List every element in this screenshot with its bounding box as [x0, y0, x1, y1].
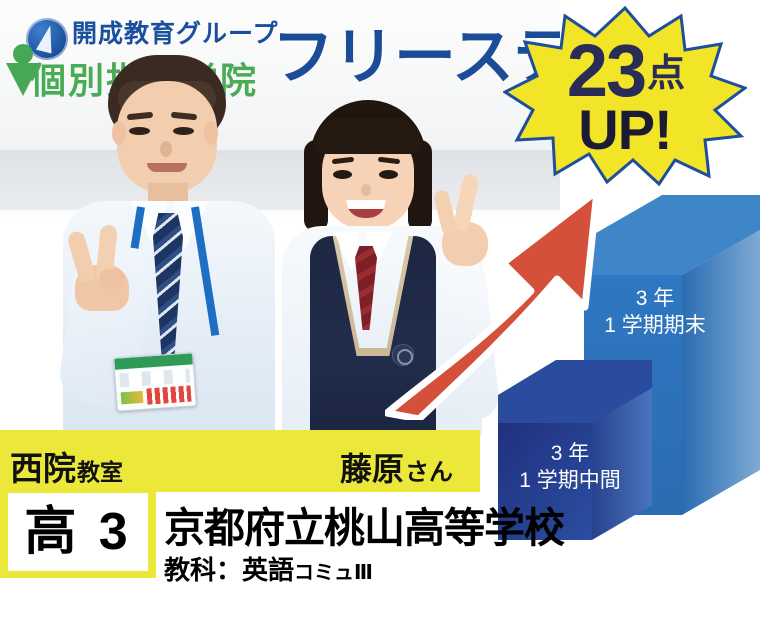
subject-label: 教科： [164, 555, 242, 585]
banner-group-name: 開成教育グループ [72, 14, 279, 50]
points-unit: 点 [647, 53, 683, 95]
student-honorific: さん [405, 459, 453, 486]
student-name-label: 藤原さん [340, 444, 760, 490]
points-value-group: 23点 [503, 34, 747, 108]
teacher-peace-hand [69, 225, 131, 311]
growth-arrow-icon [385, 175, 625, 420]
subject-sub: コミュⅢ [294, 562, 373, 584]
success-story-card: 開成教育グループ 個別指導学院 フリーステ [0, 0, 760, 620]
classroom-suffix: 教室 [77, 459, 123, 485]
school-name: 京都府立桃山高等学校 [164, 494, 564, 554]
grade-box: 高 3 [8, 493, 148, 571]
student-name: 藤原 [340, 451, 404, 487]
teacher-photo [55, 55, 275, 440]
grade-value: 高 3 [24, 506, 131, 558]
subject-main: 英語 [242, 555, 294, 585]
up-label: UP! [503, 102, 747, 158]
points-up-badge: 23点 UP! [503, 6, 747, 186]
subject-line: 教科：英語コミュⅢ [164, 550, 373, 587]
staff-id-badge [113, 352, 197, 411]
classroom-label: 西院教室 [10, 442, 123, 490]
classroom-name: 西院 [10, 450, 76, 487]
